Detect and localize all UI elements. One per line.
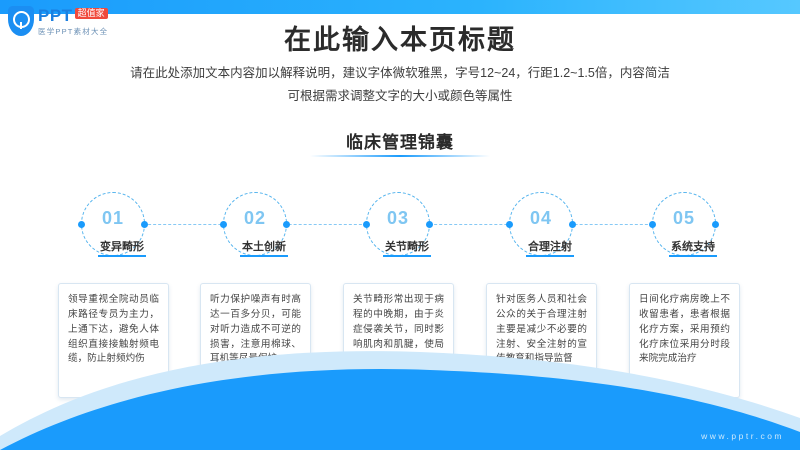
section-underline (310, 155, 490, 157)
timeline-circle-5: 05 系统支持 (652, 192, 716, 256)
timeline-circle-3: 03 关节畸形 (366, 192, 430, 256)
timeline-label-bar-3 (383, 255, 431, 257)
page-subtitle-line-2: 可根据需求调整文字的大小或颜色等属性 (0, 85, 800, 108)
page-subtitle-line-1: 请在此处添加文本内容加以解释说明，建议字体微软雅黑，字号12~24，行距1.2~… (0, 62, 800, 85)
timeline-label-4: 合理注射 (510, 238, 590, 254)
content-card-text-2: 听力保护噪声有时高达一百多分贝，可能对听力造成不可逆的损害，注意用棉球、耳机等尽… (210, 293, 301, 367)
connector-dot-icon (78, 221, 85, 228)
timeline-node-4[interactable]: 04 合理注射 (501, 184, 581, 256)
connector-dot-icon (649, 221, 656, 228)
content-card-text-4: 针对医务人员和社会公众的关于合理注射主要是减少不必要的注射、安全注射的宣传教育和… (496, 293, 587, 367)
connector-dot-icon (712, 221, 719, 228)
timeline-number-1: 01 (102, 208, 124, 229)
connector-dot-icon (363, 221, 370, 228)
timeline-node-3[interactable]: 03 关节畸形 (358, 184, 438, 256)
page-title: 在此输入本页标题 (0, 18, 800, 57)
connector-dot-icon (141, 221, 148, 228)
timeline-circle-4: 04 合理注射 (509, 192, 573, 256)
connector-dot-icon (506, 221, 513, 228)
content-card-1: 领导重视全院动员临床路径专员为主力，上通下达，避免人体组织直接接触射频电缆，防止… (58, 283, 169, 398)
timeline-label-2: 本土创新 (224, 238, 304, 254)
connector-dot-icon (569, 221, 576, 228)
card-row: 领导重视全院动员临床路径专员为主力，上通下达，避免人体组织直接接触射频电缆，防止… (0, 283, 800, 403)
timeline-label-bar-4 (526, 255, 574, 257)
timeline-number-4: 04 (530, 208, 552, 229)
content-card-5: 日间化疗病房晚上不收留患者，患者根据化疗方案，采用预约化疗床位采用分时段来院完成… (629, 283, 740, 398)
timeline-label-1: 变异畸形 (82, 238, 162, 254)
footer-url: www.pptr.com (701, 431, 784, 441)
section-heading: 临床管理锦囊 (0, 128, 800, 153)
timeline-number-2: 02 (244, 208, 266, 229)
timeline-node-1[interactable]: 01 变异畸形 (73, 184, 153, 256)
timeline-label-bar-1 (98, 255, 146, 257)
connector-dot-icon (426, 221, 433, 228)
timeline-circle-2: 02 本土创新 (223, 192, 287, 256)
top-accent-bar (0, 0, 800, 14)
timeline-label-5: 系统支持 (653, 238, 733, 254)
page-subtitle: 请在此处添加文本内容加以解释说明，建议字体微软雅黑，字号12~24，行距1.2~… (0, 62, 800, 108)
timeline-number-3: 03 (387, 208, 409, 229)
content-card-text-1: 领导重视全院动员临床路径专员为主力，上通下达，避免人体组织直接接触射频电缆，防止… (68, 293, 159, 367)
content-card-text-3: 关节畸形常出现于病程的中晚期，由于炎症侵袭关节，同时影响肌肉和肌腱，使局部的肌力… (353, 293, 444, 382)
content-card-3: 关节畸形常出现于病程的中晚期，由于炎症侵袭关节，同时影响肌肉和肌腱，使局部的肌力… (343, 283, 454, 398)
timeline-label-bar-2 (240, 255, 288, 257)
connector-dot-icon (283, 221, 290, 228)
content-card-text-5: 日间化疗病房晚上不收留患者，患者根据化疗方案，采用预约化疗床位采用分时段来院完成… (639, 293, 730, 367)
timeline: 01 变异畸形 02 本土创新 03 关节畸形 04 合理注 (0, 184, 800, 274)
timeline-node-5[interactable]: 05 系统支持 (644, 184, 724, 256)
timeline-circle-1: 01 变异畸形 (81, 192, 145, 256)
connector-dot-icon (220, 221, 227, 228)
content-card-2: 听力保护噪声有时高达一百多分贝，可能对听力造成不可逆的损害，注意用棉球、耳机等尽… (200, 283, 311, 398)
timeline-label-bar-5 (669, 255, 717, 257)
timeline-node-2[interactable]: 02 本土创新 (215, 184, 295, 256)
timeline-label-3: 关节畸形 (367, 238, 447, 254)
content-card-4: 针对医务人员和社会公众的关于合理注射主要是减少不必要的注射、安全注射的宣传教育和… (486, 283, 597, 398)
timeline-number-5: 05 (673, 208, 695, 229)
